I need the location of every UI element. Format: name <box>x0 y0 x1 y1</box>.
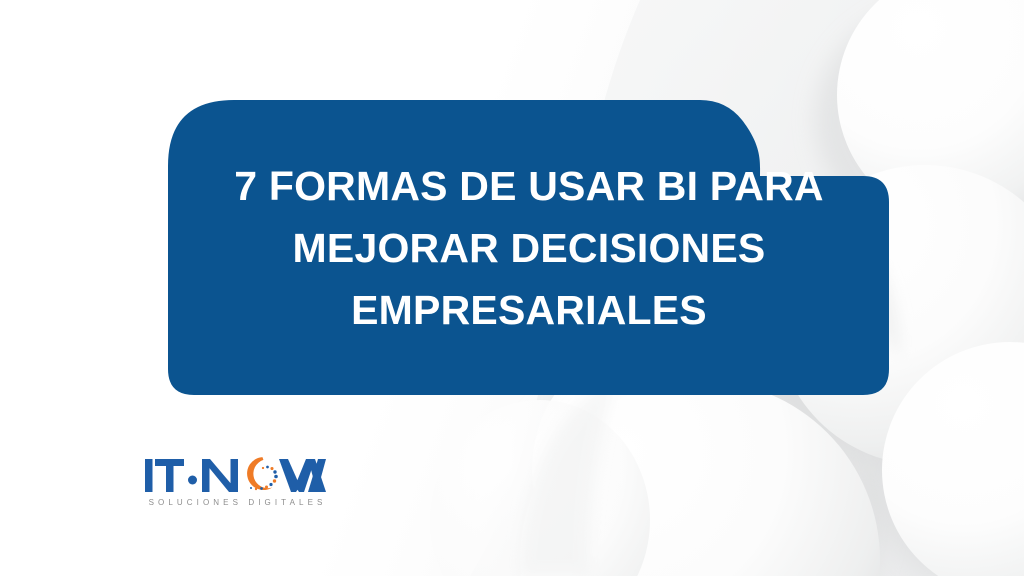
title-line-1: 7 FORMAS DE USAR BI PARA <box>234 155 823 217</box>
logo-tagline: SOLUCIONES DIGITALES <box>147 498 328 507</box>
logo-orbit-icon <box>243 457 278 495</box>
title-line-3: EMPRESARIALES <box>351 279 707 341</box>
logo-wordmark-icon <box>143 452 328 498</box>
logo: SOLUCIONES DIGITALES <box>143 452 328 514</box>
title-line-2: MEJORAR DECISIONES <box>293 217 766 279</box>
banner-title-block: 7 FORMAS DE USAR BI PARA MEJORAR DECISIO… <box>168 100 890 396</box>
slide-canvas: 7 FORMAS DE USAR BI PARA MEJORAR DECISIO… <box>0 0 1024 576</box>
